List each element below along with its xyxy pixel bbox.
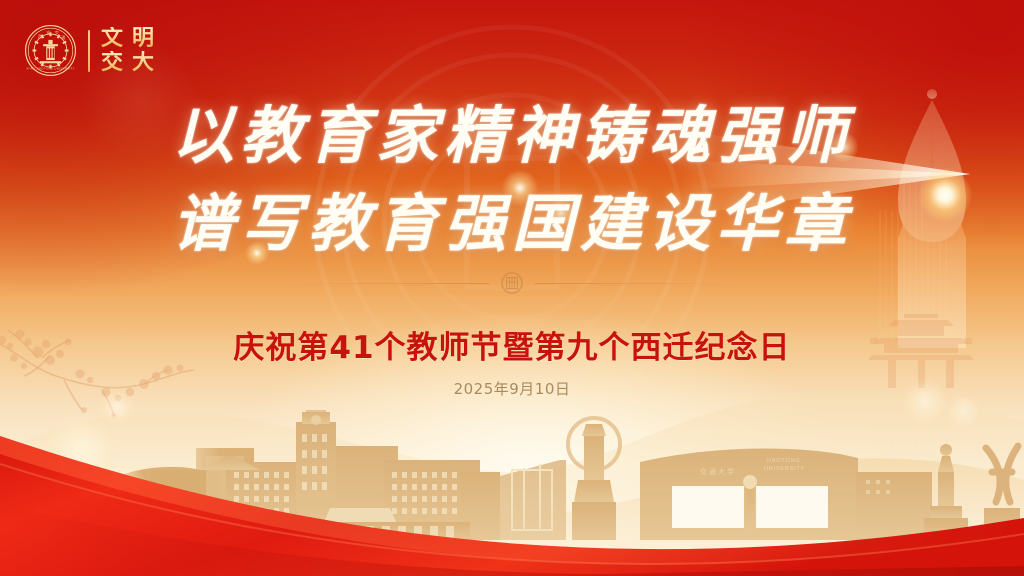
brand-wordmark: 文 明 交 大 [101, 27, 154, 74]
xi-an-jiaotong-university-seal-icon: XI'AN JIAOTONG UNIVERSITY 西安交通 [24, 24, 77, 77]
svg-text:通: 通 [61, 34, 66, 41]
event-subtitle: 庆祝第41个教师节暨第九个西迁纪念日 [0, 322, 1024, 367]
wordmark-char-2: 明 [132, 27, 154, 50]
logo-divider [88, 30, 90, 72]
headline-calligraphy: 以教育家精神铸魂强师 谱写教育强国建设华章 [0, 92, 1024, 268]
red-silk-ribbon-icon [0, 426, 1024, 576]
event-date: 2025年9月10日 [0, 378, 1024, 399]
brand-logo-block[interactable]: XI'AN JIAOTONG UNIVERSITY 西安交通 文 明 交 大 [24, 24, 154, 77]
round-seal-ornament-icon [501, 272, 523, 294]
svg-text:安: 安 [46, 29, 50, 36]
headline-line-1: 以教育家精神铸魂强师 [0, 92, 1024, 180]
svg-text:XI'AN JIAOTONG UNIVERSITY: XI'AN JIAOTONG UNIVERSITY [26, 67, 74, 71]
divider-line-left [289, 283, 489, 284]
wordmark-char-3: 交 [101, 51, 123, 74]
wordmark-char-4: 大 [132, 51, 154, 74]
headline-line-2: 谱写教育强国建设华章 [0, 180, 1024, 268]
ornament-divider [0, 272, 1024, 294]
poster-canvas: 交通大学 JIAOTONG UNIVERSITY [0, 0, 1024, 576]
wordmark-char-1: 文 [101, 27, 123, 50]
divider-line-right [535, 283, 735, 284]
